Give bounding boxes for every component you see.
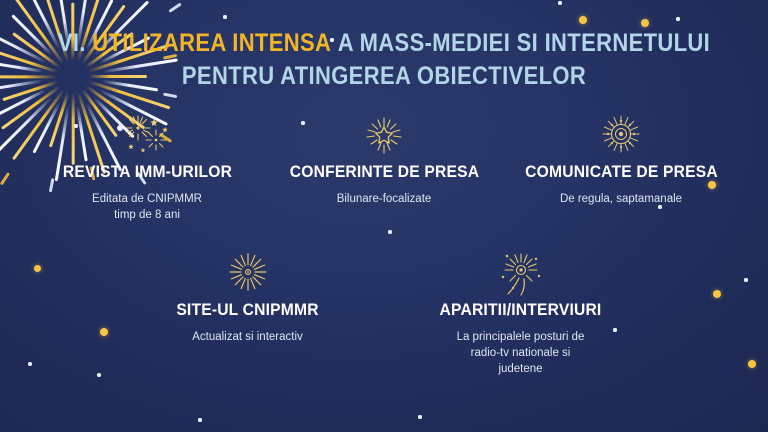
feature-title: REVISTA IMM-URILOR	[48, 162, 246, 182]
feature-subtitle: Bilunare-focalizate	[277, 191, 492, 207]
slide-canvas: VI. UTILIZAREA INTENSA A MASS-MEDIEI SI …	[0, 0, 768, 432]
feature-item-site[interactable]: SITE-UL CNIPMMR Actualizat si interactiv	[140, 250, 355, 377]
white-dot	[676, 17, 679, 20]
title-line-1: VI. UTILIZAREA INTENSA A MASS-MEDIEI SI …	[46, 27, 722, 60]
title-line-2: PENTRU ATINGEREA OBIECTIVELOR	[46, 60, 722, 93]
gold-dot	[579, 16, 587, 24]
gold-dot	[641, 19, 649, 27]
sunburst-firework-icon	[140, 250, 355, 296]
radial-mandala-firework-icon	[514, 112, 729, 158]
white-dot	[418, 415, 421, 418]
feature-row-2: SITE-UL CNIPMMR Actualizat si interactiv	[0, 250, 768, 377]
feature-row-1: REVISTA IMM-URILOR Editata de CNIPMMR ti…	[0, 112, 768, 223]
title-number: VI.	[58, 29, 86, 57]
page-title: VI. UTILIZAREA INTENSA A MASS-MEDIEI SI …	[0, 27, 768, 93]
double-firework-icon	[40, 112, 255, 158]
white-dot	[388, 230, 391, 233]
feature-subtitle: De regula, saptamanale	[514, 191, 729, 207]
white-dot	[223, 15, 226, 18]
firework-spark	[163, 93, 177, 98]
spiral-firework-icon	[413, 250, 628, 296]
feature-item-comunicate[interactable]: COMUNICATE DE PRESA De regula, saptamana…	[514, 112, 729, 223]
title-highlight: UTILIZAREA INTENSA	[92, 29, 331, 57]
feature-title: SITE-UL CNIPMMR	[149, 300, 347, 320]
feature-subtitle: Editata de CNIPMMR timp de 8 ani	[40, 191, 255, 223]
feature-item-aparitii[interactable]: APARITII/INTERVIURI La principalele post…	[413, 250, 628, 377]
feature-title: APARITII/INTERVIURI	[422, 300, 620, 320]
feature-title: CONFERINTE DE PRESA	[285, 162, 483, 182]
feature-subtitle: La principalele posturi de radio-tv nati…	[413, 329, 628, 377]
white-dot	[198, 418, 201, 421]
feature-item-conferinte[interactable]: CONFERINTE DE PRESA Bilunare-focalizate	[277, 112, 492, 223]
feature-item-revista[interactable]: REVISTA IMM-URILOR Editata de CNIPMMR ti…	[40, 112, 255, 223]
white-dot	[558, 1, 561, 4]
firework-spark	[168, 3, 181, 13]
feature-subtitle: Actualizat si interactiv	[140, 329, 355, 345]
title-line-1-suffix: A MASS-MEDIEI SI INTERNETULUI	[338, 29, 710, 57]
feature-title: COMUNICATE DE PRESA	[522, 162, 720, 182]
star-burst-icon	[277, 112, 492, 158]
